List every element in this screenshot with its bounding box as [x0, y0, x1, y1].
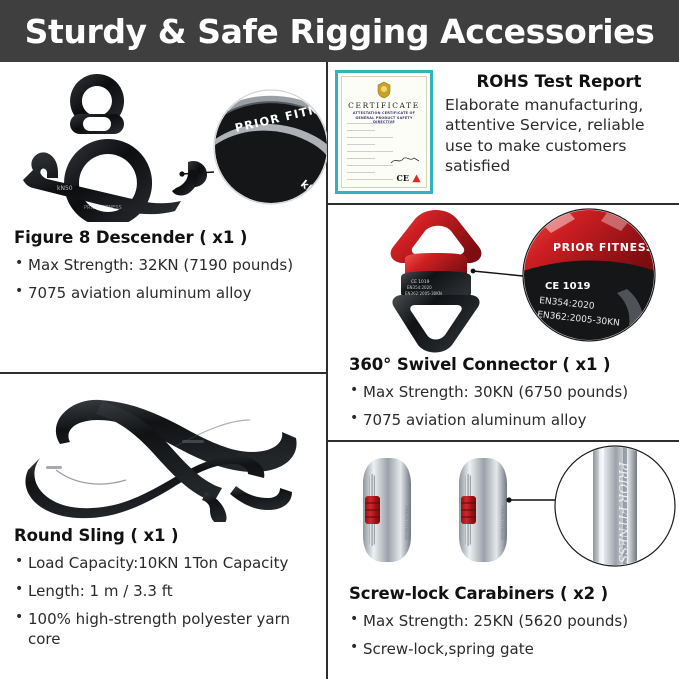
carabiners-text: Screw-lock Carabiners ( x2 ) Max Strengt… — [327, 582, 679, 659]
spec-item: Screw-lock,spring gate — [349, 640, 665, 659]
spec-item: Max Strength: 32KN (7190 pounds) — [14, 256, 313, 275]
spec-item: Max Strength: 25KN (5620 pounds) — [349, 612, 665, 631]
right-column: CERTIFICATE ATTESTATION CERTIFICATE OF G… — [327, 62, 679, 679]
figure8-specs: Max Strength: 32KN (7190 pounds) 7075 av… — [14, 256, 313, 303]
svg-text:PRIOR FITNESS: PRIOR FITNESS — [616, 461, 630, 563]
warning-triangle-icon — [412, 174, 421, 183]
round-sling-icon — [0, 374, 327, 522]
spec-item: Length: 1 m / 3.3 ft — [14, 582, 313, 601]
rohs-text-block: ROHS Test Report Elaborate manufacturing… — [445, 72, 673, 177]
certificate-heading: CERTIFICATE — [342, 101, 426, 110]
round-sling-artwork — [0, 374, 327, 522]
carabiners-artwork: PRIOR FITNESS PRIOR FITNESS — [327, 442, 679, 582]
round-sling-text: Round Sling ( x1 ) Load Capacity:10KN 1T… — [0, 522, 327, 649]
svg-text:PRIOR FITNESS: PRIOR FITNESS — [553, 241, 654, 254]
carabiners-title: Screw-lock Carabiners ( x2 ) — [349, 584, 665, 603]
svg-text:kN50: kN50 — [57, 185, 73, 192]
svg-text:EN354:2020: EN354:2020 — [407, 285, 432, 290]
figure-8-descender-icon: kN50 PRIOR FITNESS PRIOR FITNESS kN50 — [0, 62, 327, 222]
certificate-ce-marks: CE — [397, 173, 421, 183]
rohs-title: ROHS Test Report — [445, 72, 673, 91]
svg-text:PRIOR FITNESS: PRIOR FITNESS — [403, 506, 409, 540]
panel-swivel-connector: CE 1019 EN354:2020 EN362:2005-30KN — [327, 205, 679, 440]
rohs-body: Elaborate manufacturing, attentive Servi… — [445, 95, 673, 177]
screw-lock-carabiner-icon: PRIOR FITNESS PRIOR FITNESS — [327, 442, 679, 582]
swivel-title: 360° Swivel Connector ( x1 ) — [349, 355, 665, 374]
spec-item: 100% high-strength polyester yarn core — [14, 610, 313, 648]
round-sling-specs: Load Capacity:10KN 1Ton Capacity Length:… — [14, 554, 313, 649]
svg-text:PRIOR FITNESS: PRIOR FITNESS — [499, 506, 505, 540]
ce-mark-label: CE — [397, 173, 409, 183]
panel-screw-lock-carabiners: PRIOR FITNESS PRIOR FITNESS — [327, 442, 679, 679]
swivel-connector-icon: CE 1019 EN354:2020 EN362:2005-30KN — [327, 205, 679, 353]
spec-item: 7075 aviation aluminum alloy — [14, 284, 313, 303]
certificate-inner: CERTIFICATE ATTESTATION CERTIFICATE OF G… — [341, 76, 427, 188]
page-title: Sturdy & Safe Rigging Accessories — [25, 12, 655, 51]
panel-figure8-descender: kN50 PRIOR FITNESS PRIOR FITNESS kN50 — [0, 62, 327, 372]
left-column: kN50 PRIOR FITNESS PRIOR FITNESS kN50 — [0, 62, 327, 679]
panel-rohs-test-report: CERTIFICATE ATTESTATION CERTIFICATE OF G… — [327, 62, 679, 203]
spec-item: 7075 aviation aluminum alloy — [349, 411, 665, 430]
swivel-specs: Max Strength: 30KN (6750 pounds) 7075 av… — [349, 383, 665, 430]
figure8-title: Figure 8 Descender ( x1 ) — [14, 228, 313, 247]
figure8-artwork: kN50 PRIOR FITNESS PRIOR FITNESS kN50 — [0, 62, 327, 222]
certificate-signature-icon — [390, 155, 420, 165]
swivel-artwork: CE 1019 EN354:2020 EN362:2005-30KN — [327, 205, 679, 353]
svg-text:PRIOR FITNESS: PRIOR FITNESS — [84, 205, 122, 211]
svg-text:CE 1019: CE 1019 — [545, 281, 591, 292]
carabiners-specs: Max Strength: 25KN (5620 pounds) Screw-l… — [349, 612, 665, 659]
panel-round-sling: Round Sling ( x1 ) Load Capacity:10KN 1T… — [0, 374, 327, 679]
figure8-text: Figure 8 Descender ( x1 ) Max Strength: … — [0, 222, 327, 303]
certificate-image: CERTIFICATE ATTESTATION CERTIFICATE OF G… — [335, 70, 433, 194]
round-sling-title: Round Sling ( x1 ) — [14, 526, 313, 545]
certificate-emblem-icon — [376, 81, 392, 99]
spec-item: Max Strength: 30KN (6750 pounds) — [349, 383, 665, 402]
spec-item: Load Capacity:10KN 1Ton Capacity — [14, 554, 313, 573]
infographic-page: Sturdy & Safe Rigging Accessories — [0, 0, 679, 679]
header-bar: Sturdy & Safe Rigging Accessories — [0, 0, 679, 62]
swivel-text: 360° Swivel Connector ( x1 ) Max Strengt… — [327, 353, 679, 430]
